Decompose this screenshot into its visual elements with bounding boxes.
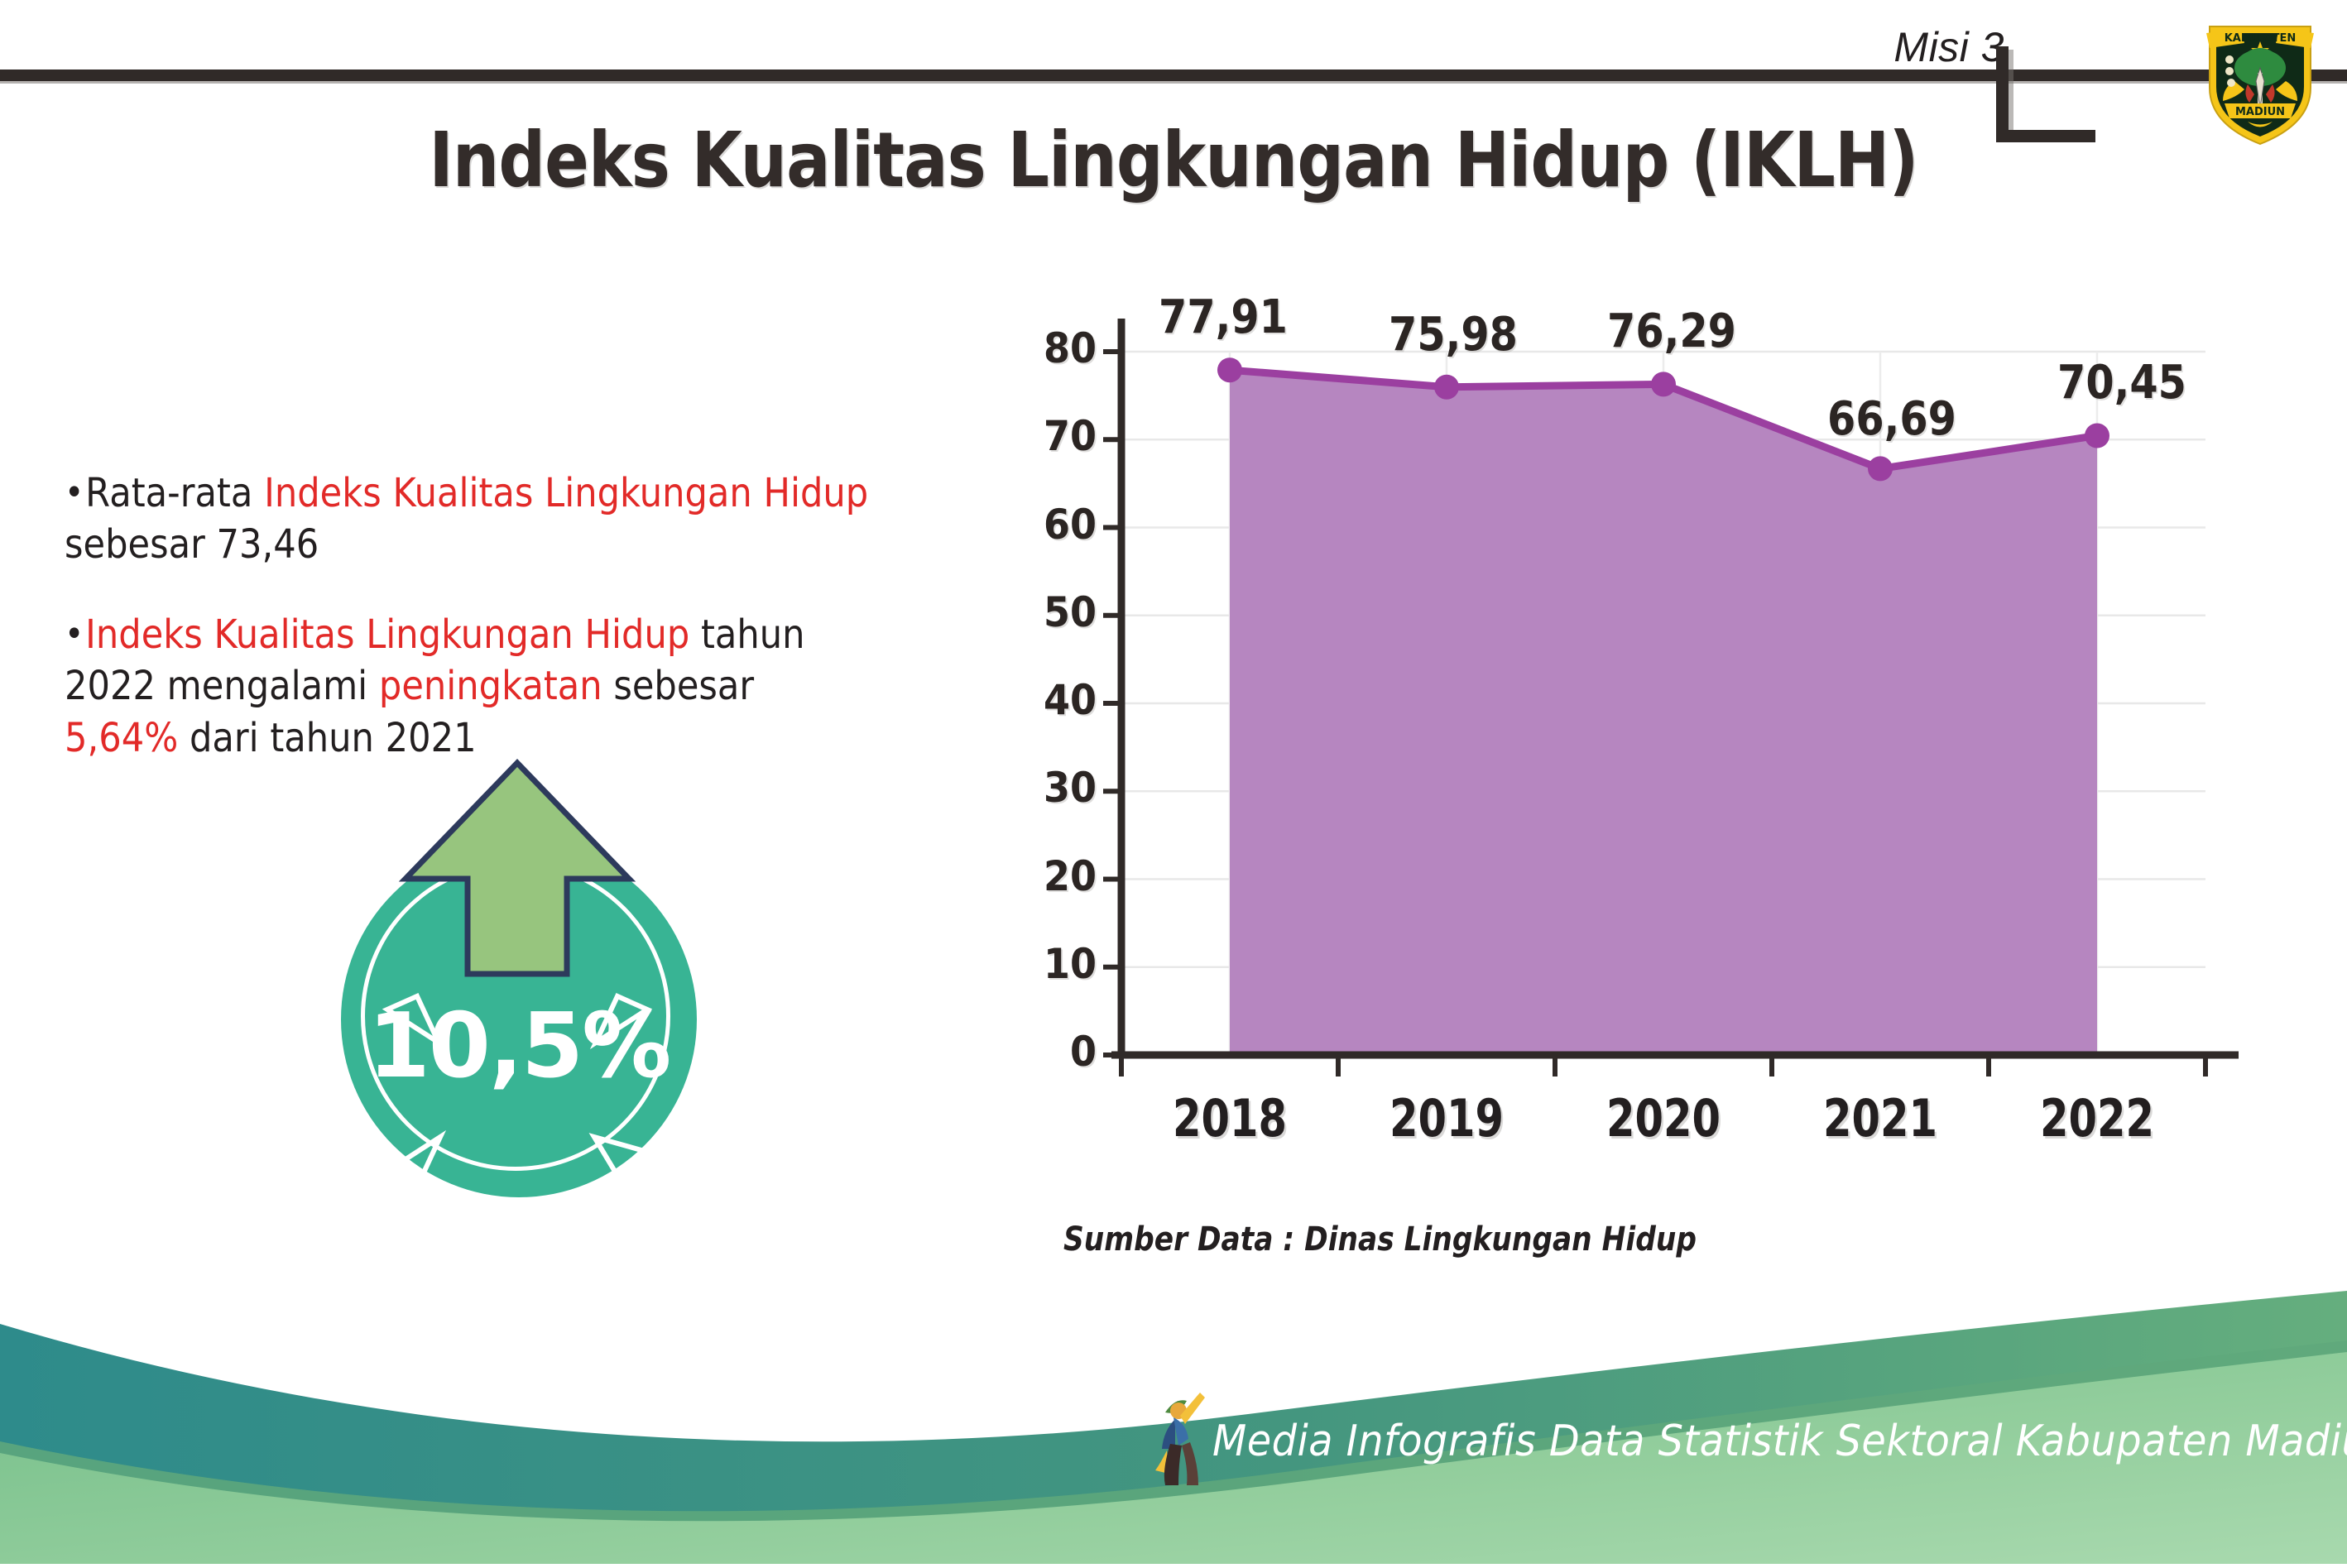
header-divider-rule bbox=[0, 70, 2347, 81]
kabupaten-madiun-emblem-icon: KABUPATEN MADIUN bbox=[2198, 8, 2322, 149]
page-title: Indeks Kualitas Lingkungan Hidup (IKLH) bbox=[165, 116, 2183, 204]
y-axis-tick-label: 80 bbox=[1006, 324, 1097, 372]
data-point-label: 77,91 bbox=[1114, 290, 1332, 344]
iklh-area-chart: 01020304050607080 20182019202020212022 7… bbox=[981, 298, 2239, 1175]
data-point-marker bbox=[1217, 357, 1242, 382]
area-fill bbox=[1230, 370, 2097, 1055]
y-axis-tick-label: 60 bbox=[1006, 501, 1097, 549]
badge-value-label: 10,5% bbox=[341, 995, 697, 1098]
chart-canvas bbox=[981, 298, 2239, 1175]
text-segment-3: sebesar bbox=[602, 663, 755, 709]
data-point-label: 66,69 bbox=[1783, 392, 2001, 446]
text-segment-0: Indeks Kualitas Lingkungan Hidup bbox=[85, 611, 689, 658]
text-segment-1: Indeks Kualitas Lingkungan Hidup bbox=[264, 470, 868, 516]
badge-tick-bottom-left-icon bbox=[382, 1127, 457, 1193]
badge-tick-bottom-right-icon bbox=[579, 1119, 654, 1185]
data-point-marker bbox=[1868, 456, 1893, 481]
svg-text:MADIUN: MADIUN bbox=[2235, 106, 2285, 118]
y-axis-tick-label: 40 bbox=[1006, 676, 1097, 724]
data-point-marker bbox=[1434, 375, 1459, 400]
y-axis-tick-label: 10 bbox=[1006, 940, 1097, 988]
y-axis-tick-label: 70 bbox=[1006, 412, 1097, 460]
y-axis-tick-label: 0 bbox=[1006, 1028, 1097, 1076]
y-axis-tick-label: 30 bbox=[1006, 764, 1097, 812]
text-segment-4: 5,64% bbox=[65, 715, 178, 761]
x-axis-tick-label: 2021 bbox=[1781, 1088, 1980, 1148]
source-note: Sumber Data : Dinas Lingkungan Hidup bbox=[1063, 1220, 1697, 1259]
up-arrow-icon bbox=[381, 755, 654, 1019]
footer-banner: Media Infografis Data Statistik Sektoral… bbox=[0, 1291, 2347, 1564]
x-axis-tick-label: 2020 bbox=[1564, 1088, 1763, 1148]
insight-bullet-2: •Indeks Kualitas Lingkungan Hidup tahun … bbox=[65, 609, 876, 764]
bullet-2-text: Indeks Kualitas Lingkungan Hidup tahun 2… bbox=[65, 611, 805, 761]
data-point-label: 76,29 bbox=[1562, 304, 1781, 358]
insight-bullet-1: •Rata-rata Indeks Kualitas Lingkungan Hi… bbox=[65, 468, 876, 571]
increase-badge: 10,5% bbox=[331, 755, 745, 1201]
x-axis-tick-label: 2018 bbox=[1130, 1088, 1329, 1148]
data-point-label: 75,98 bbox=[1344, 308, 1562, 362]
bullet-dot-icon: • bbox=[65, 475, 84, 511]
bullet-1-text: Rata-rata Indeks Kualitas Lingkungan Hid… bbox=[65, 470, 868, 568]
y-axis-tick-label: 20 bbox=[1006, 852, 1097, 900]
y-axis-tick-label: 50 bbox=[1006, 588, 1097, 636]
mission-label: Misi 3 bbox=[1893, 23, 2004, 71]
text-segment-0: Rata-rata bbox=[85, 470, 264, 516]
footer-text: Media Infografis Data Statistik Sektoral… bbox=[1212, 1417, 2347, 1466]
insights-panel: •Rata-rata Indeks Kualitas Lingkungan Hi… bbox=[65, 468, 967, 802]
x-axis-tick-label: 2019 bbox=[1347, 1088, 1546, 1148]
data-point-marker bbox=[2085, 423, 2109, 448]
data-point-label: 70,45 bbox=[2013, 356, 2231, 410]
bullet-dot-icon: • bbox=[65, 616, 84, 653]
x-axis-tick-label: 2022 bbox=[1998, 1088, 2196, 1148]
text-segment-2: sebesar 73,46 bbox=[65, 521, 319, 568]
data-point-marker bbox=[1651, 372, 1676, 396]
text-segment-2: peningkatan bbox=[379, 663, 602, 709]
